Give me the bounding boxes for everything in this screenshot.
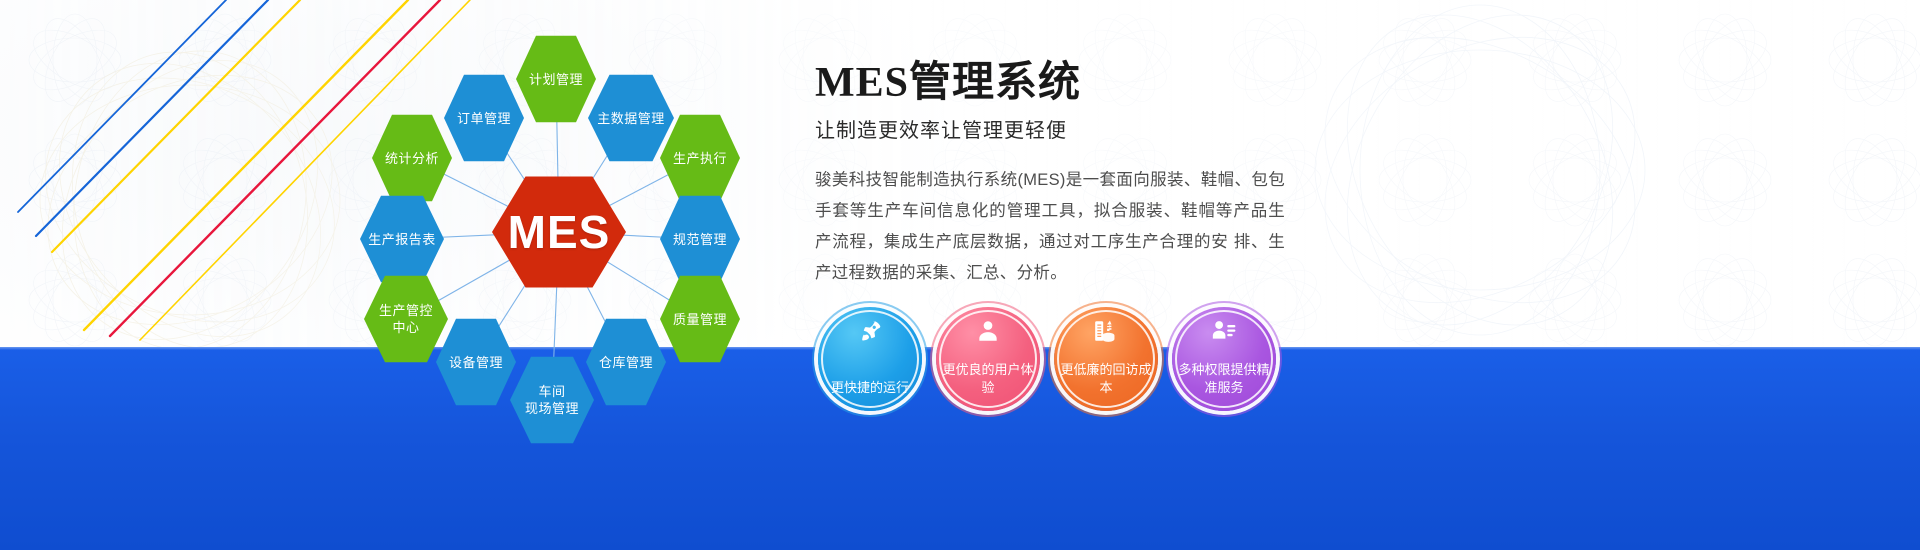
coins-icon (1054, 318, 1158, 344)
hex-node-label: 设备管理 (443, 354, 509, 371)
hex-node-label: 生产管控中心 (373, 302, 439, 336)
page-subtitle: 让制造更效率让管理更轻便 (815, 114, 1285, 143)
mes-hexagon-diagram: 计划管理订单管理主数据管理统计分析生产执行生产报告表规范管理生产管控中心质量管理… (0, 0, 820, 460)
hex-node-label: 生产执行 (667, 150, 733, 167)
feature-badge-3[interactable]: 更低廉的回访成本 (1054, 307, 1158, 411)
page-title: MES管理系统 (815, 58, 1285, 108)
feature-badge-4[interactable]: 多种权限提供精准服务 (1172, 307, 1276, 411)
hex-node-2[interactable]: 订单管理 (444, 72, 524, 164)
hex-node-3[interactable]: 主数据管理 (588, 72, 674, 164)
hex-node-label: 仓库管理 (593, 354, 659, 371)
hex-node-label: 规范管理 (667, 231, 733, 248)
badge-label: 更低廉的回访成本 (1060, 361, 1152, 397)
hex-node-11[interactable]: 仓库管理 (586, 316, 666, 408)
hex-node-6[interactable]: 生产报告表 (360, 193, 444, 285)
hex-node-4[interactable]: 统计分析 (372, 112, 452, 204)
hex-node-9[interactable]: 质量管理 (660, 273, 740, 365)
user-icon (936, 318, 1040, 344)
badge-label: 更快捷的运行 (824, 379, 916, 397)
badge-label: 更优良的用户体验 (942, 361, 1034, 397)
hex-node-label: 订单管理 (451, 110, 517, 127)
page-paragraph: 骏美科技智能制造执行系统(MES)是一套面向服装、鞋帽、包包手套等生产车间信息化… (815, 165, 1285, 289)
hex-node-label: 车间现场管理 (519, 383, 585, 417)
copy-block: MES管理系统 让制造更效率让管理更轻便 骏美科技智能制造执行系统(MES)是一… (815, 58, 1285, 289)
feature-badge-1[interactable]: 更快捷的运行 (818, 307, 922, 411)
rocket-icon (818, 318, 922, 344)
hex-node-label: 统计分析 (379, 150, 445, 167)
hex-node-7[interactable]: 规范管理 (660, 193, 740, 285)
hex-node-label: 计划管理 (523, 71, 589, 88)
hex-node-10[interactable]: 设备管理 (436, 316, 516, 408)
banner-stage: 计划管理订单管理主数据管理统计分析生产执行生产报告表规范管理生产管控中心质量管理… (0, 0, 1920, 550)
hex-node-12[interactable]: 车间现场管理 (510, 354, 594, 446)
hex-node-8[interactable]: 生产管控中心 (364, 273, 448, 365)
hex-node-5[interactable]: 生产执行 (660, 112, 740, 204)
hex-center-label: MES (502, 224, 617, 241)
hex-node-label: 生产报告表 (362, 231, 442, 248)
hex-node-label: 主数据管理 (591, 110, 671, 127)
hex-node-1[interactable]: 计划管理 (516, 33, 596, 125)
hex-node-label: 质量管理 (667, 311, 733, 328)
feature-badge-2[interactable]: 更优良的用户体验 (936, 307, 1040, 411)
badge-label: 多种权限提供精准服务 (1178, 361, 1270, 397)
feature-badge-list: 更快捷的运行更优良的用户体验更低廉的回访成本多种权限提供精准服务 (818, 307, 1276, 411)
hex-node-center[interactable]: MES (492, 173, 626, 291)
user-list-icon (1172, 318, 1276, 344)
